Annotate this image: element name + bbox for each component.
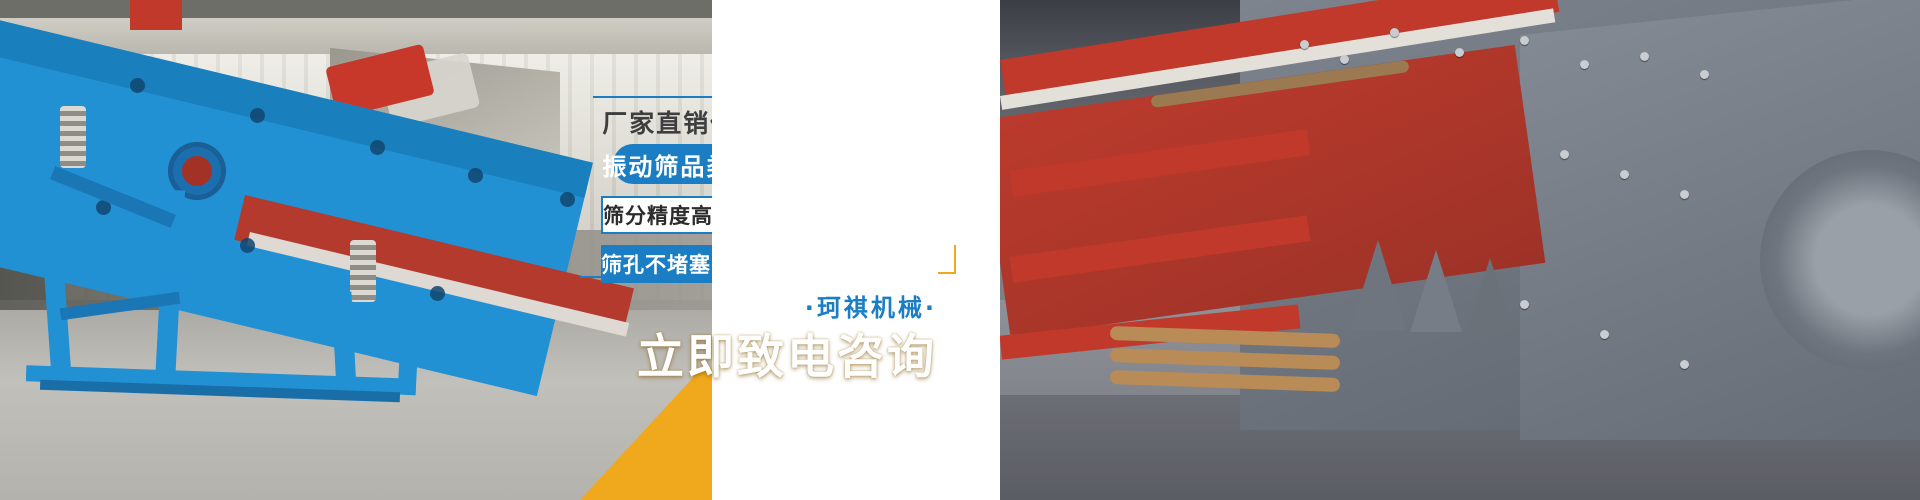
promo-banner: 振动筛 厂家直销供应 价格实惠公道 振动筛品类齐全 满足多种需求 筛分精度高 处…: [0, 0, 1920, 500]
connector-line-horizontal: [580, 276, 610, 278]
bolt: [1680, 360, 1689, 369]
bolt: [1620, 170, 1629, 179]
support-bracket: [1466, 258, 1514, 334]
bolt: [1520, 36, 1529, 45]
bolt: [1340, 55, 1349, 64]
deck-hole: [130, 78, 145, 93]
connector-line-right-vertical: [954, 245, 956, 274]
bolt: [1300, 40, 1309, 49]
bolt: [1520, 300, 1529, 309]
connector-line-elbow: [608, 258, 624, 260]
bolt: [1390, 28, 1399, 37]
deck-hole: [240, 238, 255, 253]
support-bracket: [1350, 240, 1406, 330]
deck-hole: [468, 168, 483, 183]
info-panel: [712, 0, 1000, 500]
support-bracket: [1410, 250, 1462, 332]
bolt: [1580, 60, 1589, 69]
bolt: [1680, 190, 1689, 199]
bolt: [1600, 330, 1609, 339]
deck-hole: [560, 192, 575, 207]
cta-text[interactable]: 立即致电咨询: [0, 318, 1000, 387]
bolt: [1560, 150, 1569, 159]
deck-hole: [370, 140, 385, 155]
connector-line-vertical: [608, 258, 610, 278]
bolt: [1700, 70, 1709, 79]
bolt: [1455, 48, 1464, 57]
bolt: [1640, 52, 1649, 61]
product-photo-right: [1000, 0, 1920, 500]
